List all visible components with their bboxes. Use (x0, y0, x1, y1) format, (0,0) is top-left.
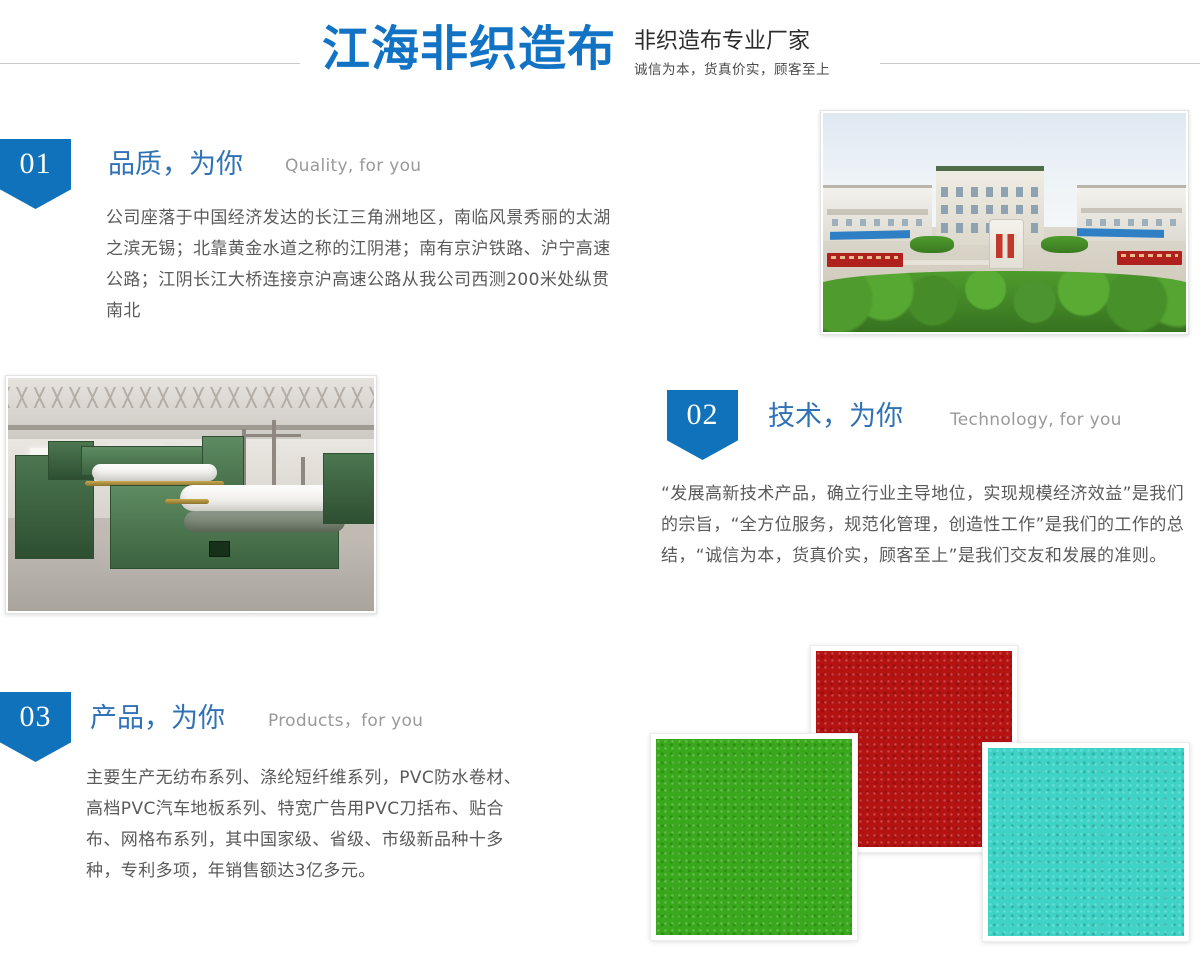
brand-subtitle-group: 非织造布专业厂家 诚信为本，货真价实，顾客至上 (634, 28, 864, 79)
header-divider-left (0, 63, 300, 64)
factory-building-photo (820, 110, 1189, 335)
header-divider-right (880, 63, 1200, 64)
production-machine-photo (5, 375, 377, 614)
section-title-en-02: Technology, for you (950, 409, 1122, 431)
section-badge-number-03: 03 (0, 698, 71, 736)
section-title-en-03: Products，for you (268, 710, 423, 732)
section-title-03: 产品，为你 (90, 702, 225, 736)
section-title-01: 品质，为你 (108, 148, 243, 182)
section-badge-number-01: 01 (0, 145, 71, 183)
page-header: 江海非织造布 非织造布专业厂家 诚信为本，货真价实，顾客至上 (0, 0, 1200, 100)
section-title-02: 技术，为你 (768, 400, 903, 434)
section-body-02: “发展高新技术产品，确立行业主导地位，实现规模经济效益”是我们的宗旨，“全方位服… (661, 479, 1189, 572)
brand-title: 江海非织造布 (322, 20, 616, 78)
brand-slogan: 诚信为本，货真价实，顾客至上 (634, 61, 864, 79)
green-fabric-swatch (650, 733, 858, 941)
section-body-03: 主要生产无纺布系列、涤纶短纤维系列，PVC防水卷材、高档PVC汽车地板系列、特宽… (86, 763, 526, 887)
brand-subtitle: 非织造布专业厂家 (634, 28, 864, 56)
teal-fabric-swatch (982, 742, 1190, 942)
section-badge-number-02: 02 (667, 396, 738, 434)
section-body-01: 公司座落于中国经济发达的长江三角洲地区，南临风景秀丽的太湖之滨无锡；北靠黄金水道… (106, 203, 614, 327)
section-title-en-01: Quality, for you (285, 155, 421, 177)
